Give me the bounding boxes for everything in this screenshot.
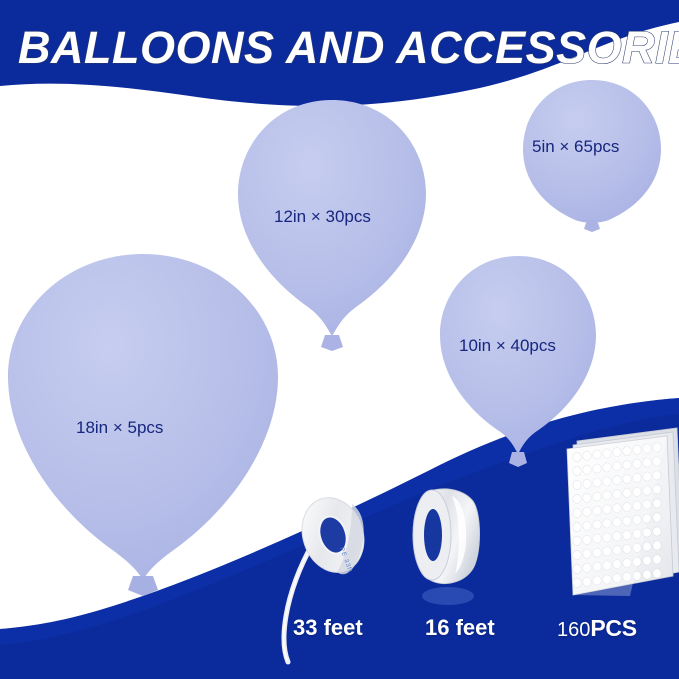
glue-dot-unit: PCS (590, 615, 636, 641)
tape-roll-reflection (422, 587, 474, 605)
accessory-group: PE 33ft (0, 0, 679, 679)
glue-dot-count: 160 (557, 619, 590, 641)
balloon-10in-label: 10in × 40pcs (459, 336, 556, 356)
glue-dot-sheet-caption: 160PCS (557, 615, 637, 642)
tape-roll-hole (424, 509, 442, 561)
ribbon-roll-caption: 33 feet (293, 615, 363, 641)
ribbon-strip-highlight (284, 547, 311, 660)
page-title: BALLOONS AND ACCESSORIES (18, 22, 679, 74)
balloon-12in-label: 12in × 30pcs (274, 207, 371, 227)
product-infographic: PE 33ft (0, 0, 679, 679)
tape-roll (413, 489, 480, 605)
glue-dot-sheet (567, 428, 679, 596)
balloon-18in-label: 18in × 5pcs (76, 418, 163, 438)
balloon-5in-label: 5in × 65pcs (532, 137, 619, 157)
tape-roll-caption: 16 feet (425, 615, 495, 641)
